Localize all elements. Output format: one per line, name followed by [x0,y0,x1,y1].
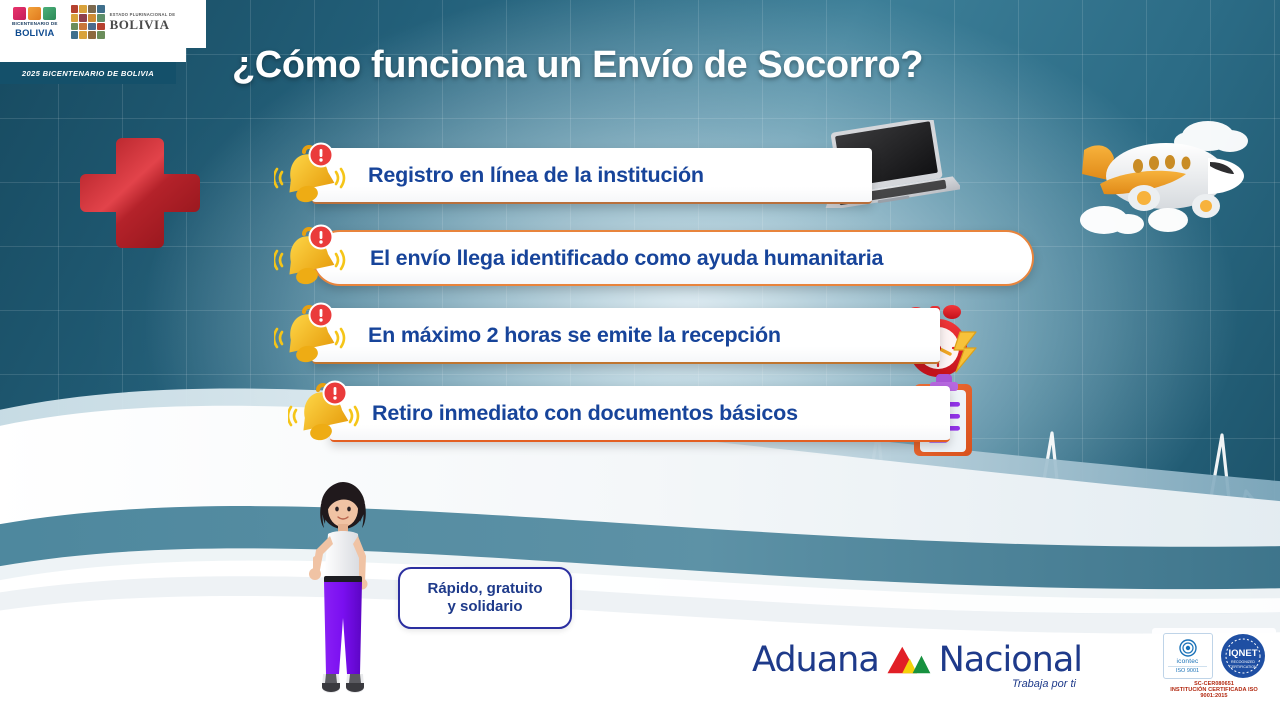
step-row-2[interactable]: El envío llega identificado como ayuda h… [312,230,1034,286]
step-card-1[interactable]: Registro en línea de la institución [312,148,872,204]
step-label-3: En máximo 2 horas se emite la recepción [368,323,781,348]
icontec-badge: icontec ISO 9001 [1163,633,1213,679]
steps-list: Registro en línea de la institución [0,0,1280,720]
icontec-name: icontec [1177,658,1199,665]
step-card-2[interactable]: El envío llega identificado como ayuda h… [312,230,1034,286]
iqnet-badge: IQNET RECOGNIZED CERTIFICATION [1220,633,1266,679]
brand-word-1: Aduana [752,640,879,680]
brand-word-2: Nacional [939,640,1082,680]
step-card-4[interactable]: Retiro inmediato con documentos básicos [330,386,950,442]
step-label-1: Registro en línea de la institución [368,163,704,188]
step-row-1[interactable]: Registro en línea de la institución [312,148,872,204]
svg-text:CERTIFICATION: CERTIFICATION [1229,665,1257,669]
certification-statement: INSTITUCIÓN CERTIFICADA ISO 9001:2015 [1156,687,1272,699]
step-label-4: Retiro inmediato con documentos básicos [372,401,798,426]
callout-line-1: Rápido, gratuito [428,580,543,598]
svg-text:RECOGNIZED: RECOGNIZED [1231,660,1255,664]
aduana-nacional-logo: Aduana Nacional Trabaja por ti [752,640,1082,702]
svg-text:IQNET: IQNET [1228,648,1257,659]
slide-canvas: 2025 BICENTENARIO DE BOLIVIA BICENTENARI… [0,0,1280,720]
step-row-4[interactable]: Retiro inmediato con documentos básicos [330,386,950,442]
woman-pointing-up-icon [286,478,400,710]
step-row-3[interactable]: En máximo 2 horas se emite la recepción [312,308,940,364]
callout-box[interactable]: Rápido, gratuito y solidario [398,567,572,629]
icontec-iso: ISO 9001 [1168,666,1206,674]
step-card-3[interactable]: En máximo 2 horas se emite la recepción [312,308,940,364]
step-label-2: El envío llega identificado como ayuda h… [370,246,883,271]
certification-badges: icontec ISO 9001 IQNET RECOGNIZED CERTIF… [1152,628,1276,714]
mountain-peaks-icon [886,640,932,680]
callout-line-2: y solidario [447,598,522,616]
icontec-mark-icon [1179,639,1197,657]
